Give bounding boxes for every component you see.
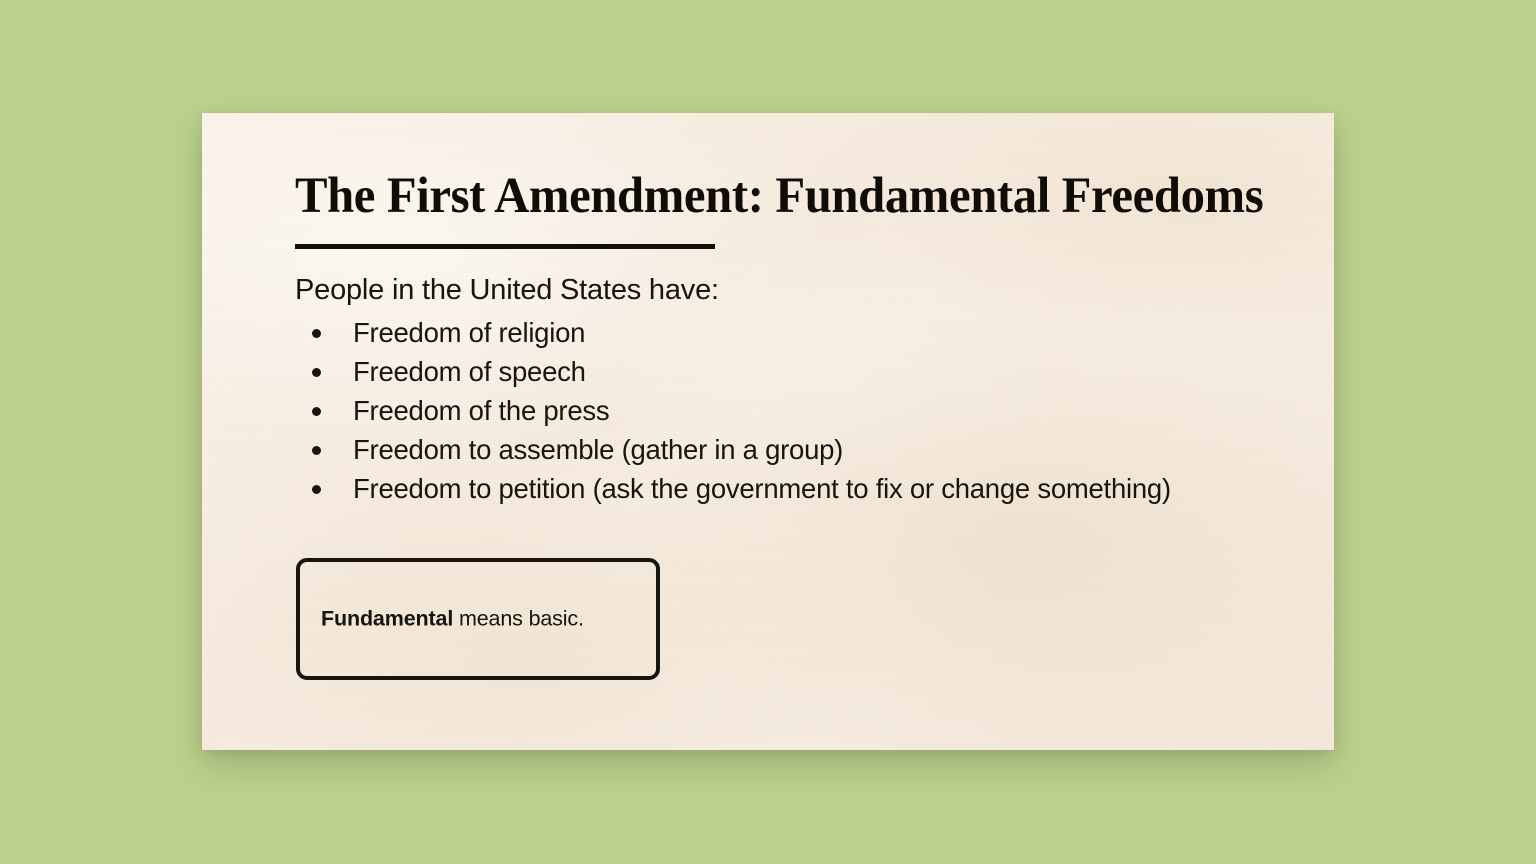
definition-term: Fundamental	[321, 607, 453, 631]
bullet-dot-icon	[312, 446, 321, 455]
intro-text: People in the United States have:	[295, 273, 719, 307]
list-item-label: Freedom to assemble (gather in a group)	[353, 434, 843, 465]
bullet-dot-icon	[312, 329, 321, 338]
page-title: The First Amendment: Fundamental Freedom…	[295, 170, 1263, 224]
bullet-dot-icon	[312, 368, 321, 377]
slide-canvas: The First Amendment: Fundamental Freedom…	[0, 0, 1536, 864]
list-item-label: Freedom to petition (ask the government …	[353, 473, 1171, 504]
title-underline-rule	[295, 244, 715, 249]
bullet-dot-icon	[312, 407, 321, 416]
list-item: Freedom to assemble (gather in a group)	[295, 430, 1171, 469]
bullet-dot-icon	[312, 485, 321, 494]
list-item: Freedom of religion	[295, 313, 1171, 352]
list-item-label: Freedom of speech	[353, 356, 586, 387]
list-item-label: Freedom of religion	[353, 317, 585, 348]
definition-text: Fundamental means basic.	[321, 606, 584, 633]
list-item: Freedom of the press	[295, 391, 1171, 430]
list-item-label: Freedom of the press	[353, 395, 609, 426]
list-item: Freedom of speech	[295, 352, 1171, 391]
definition-callout-box: Fundamental means basic.	[296, 558, 660, 680]
definition-meaning: means basic.	[453, 607, 584, 631]
list-item: Freedom to petition (ask the government …	[295, 469, 1171, 508]
freedoms-list: Freedom of religion Freedom of speech Fr…	[295, 313, 1171, 508]
presentation-slide: The First Amendment: Fundamental Freedom…	[202, 113, 1334, 750]
